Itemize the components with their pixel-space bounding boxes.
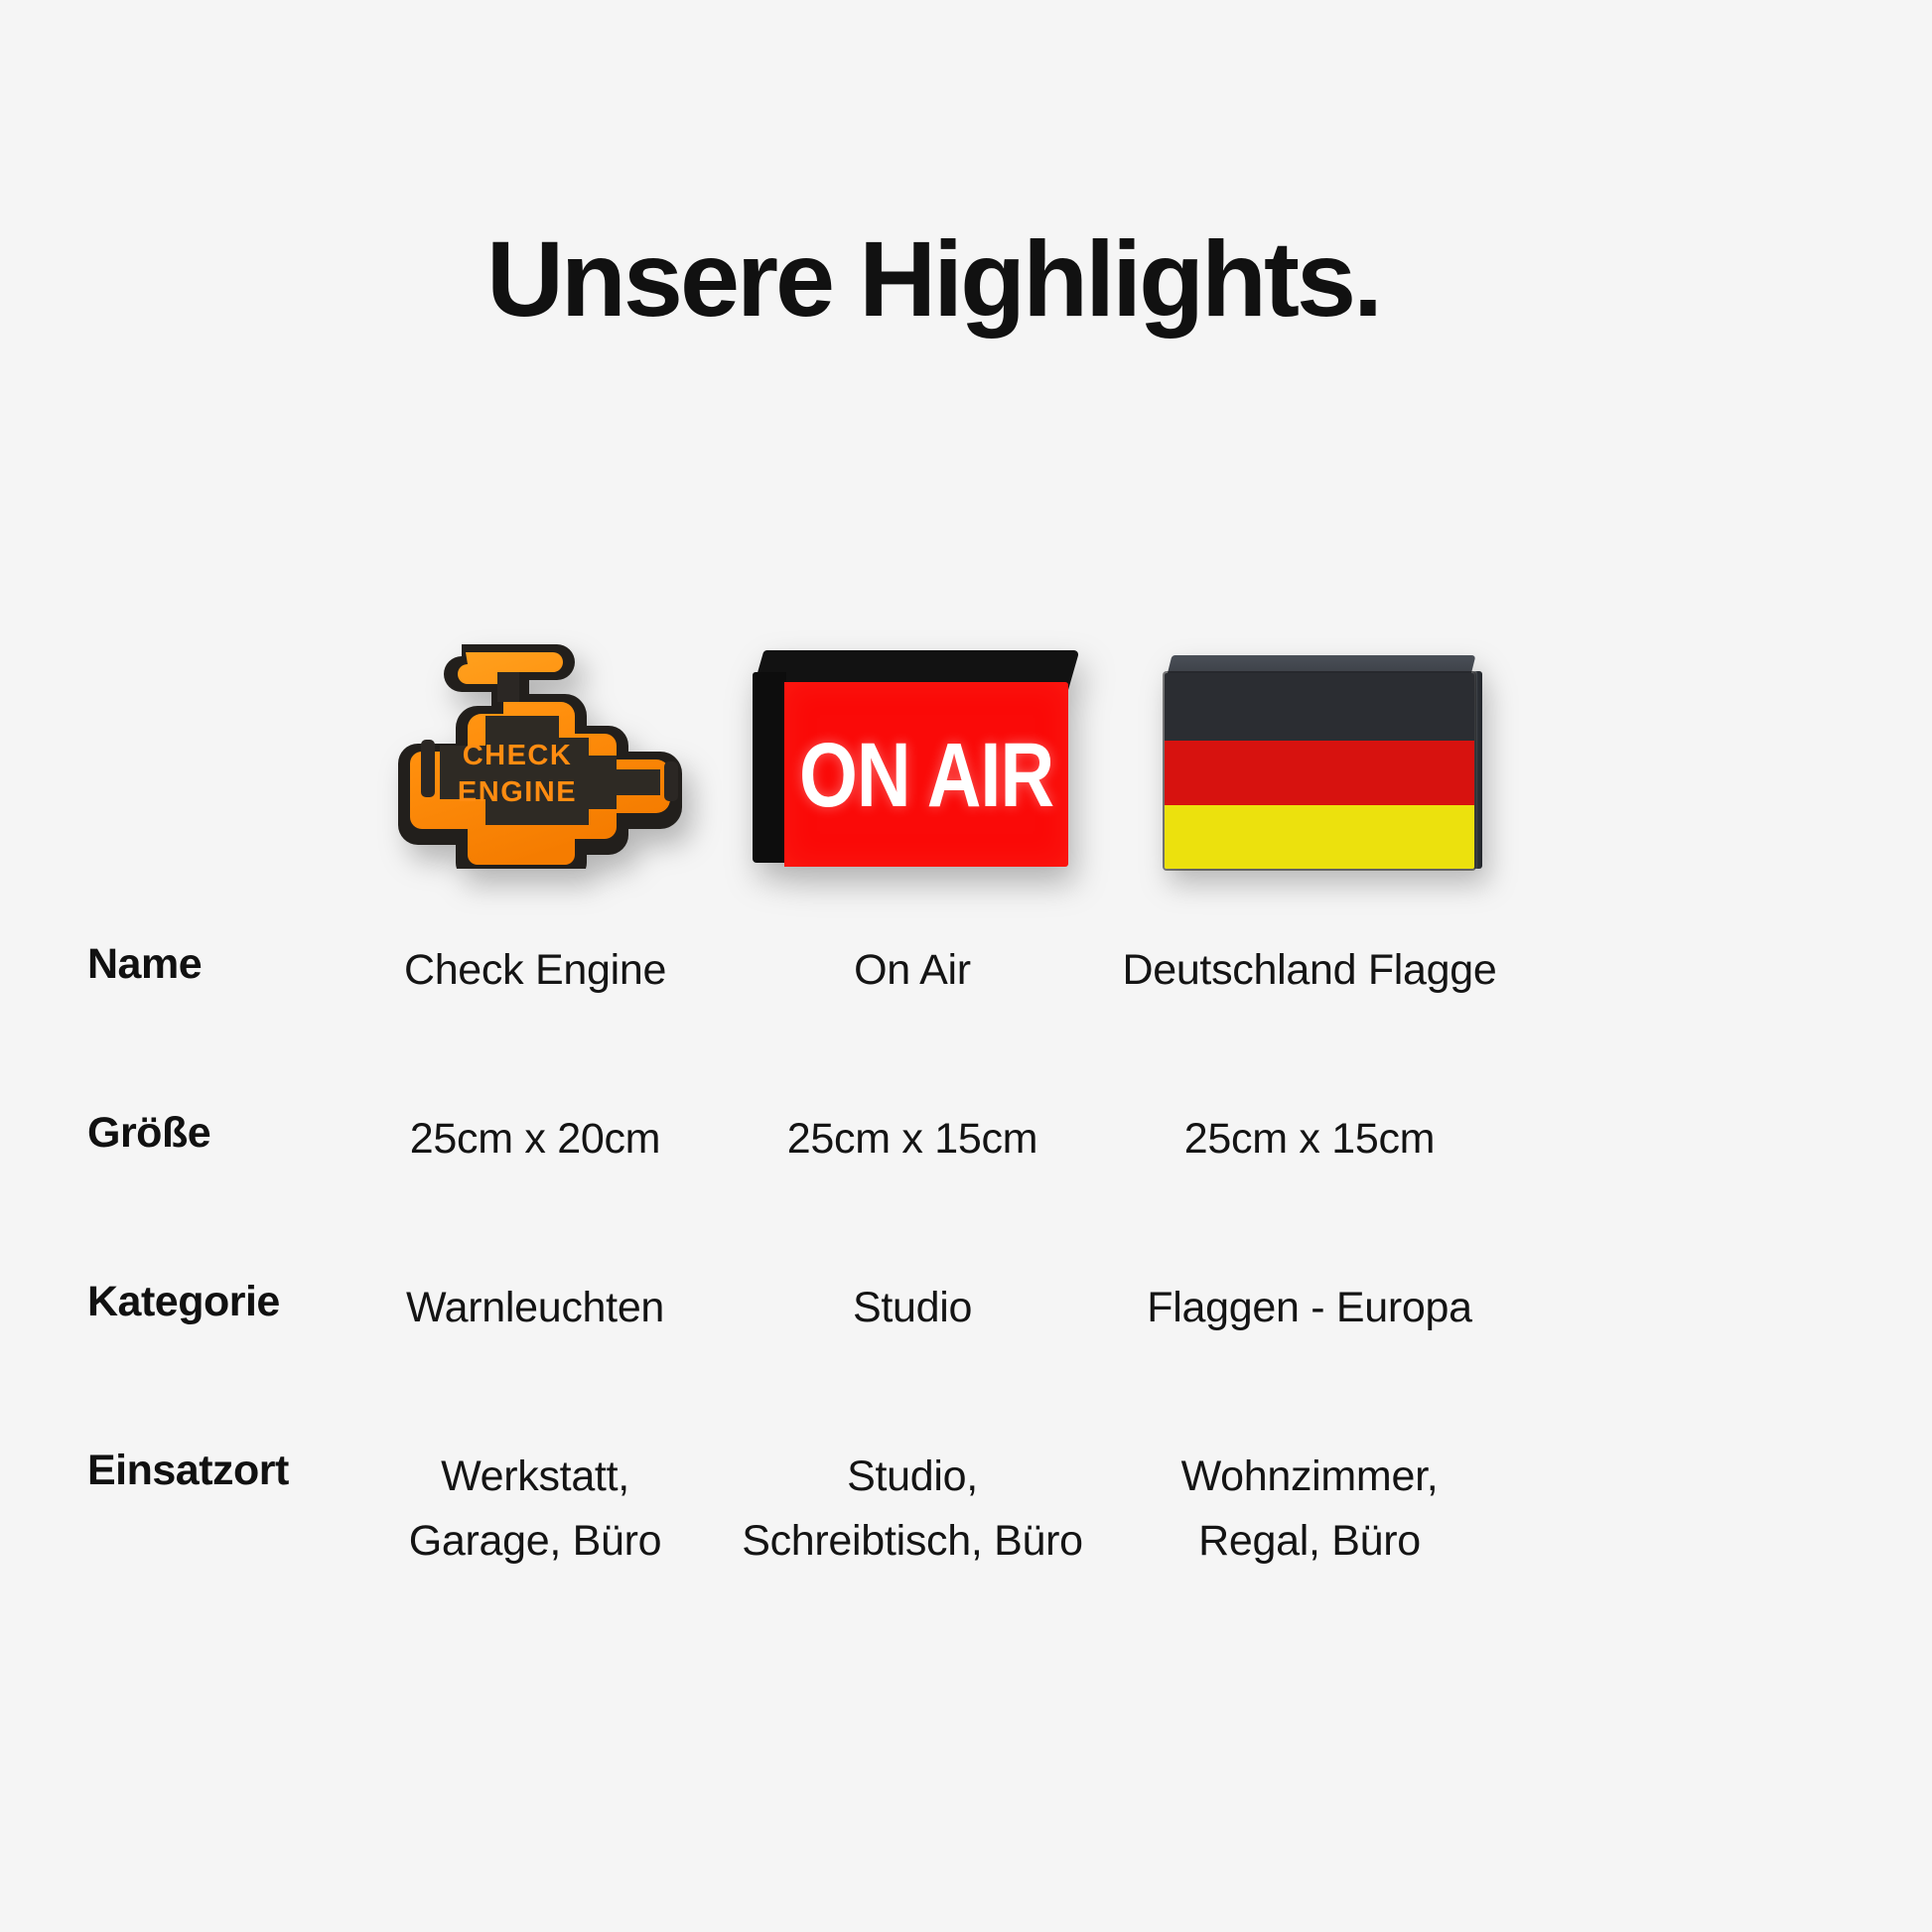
table-row: Kategorie Warnleuchten Studio Flaggen - … (0, 1276, 1932, 1445)
check-engine-icon: CHECK ENGINE (366, 621, 704, 869)
flag-front-face (1165, 673, 1474, 869)
cell-size-flagge: 25cm x 15cm (1096, 1107, 1523, 1172)
product-image-check-engine[interactable]: CHECK ENGINE (342, 551, 729, 869)
row-label-einsatzort: Einsatzort (0, 1445, 342, 1498)
cell-size-on-air: 25cm x 15cm (729, 1107, 1096, 1172)
page-title: Unsere Highlights. (0, 220, 1899, 339)
cell-location-on-air: Studio,Schreibtisch, Büro (729, 1445, 1096, 1573)
cell-size-check-engine: 25cm x 20cm (342, 1107, 729, 1172)
germany-flag-lightbox (1165, 655, 1482, 869)
svg-text:CHECK: CHECK (463, 740, 573, 771)
spec-table: Name Check Engine On Air Deutschland Fla… (0, 938, 1932, 1643)
flag-stripe-black (1165, 673, 1474, 741)
cell-category-on-air: Studio (729, 1276, 1096, 1340)
flag-stripe-yellow (1165, 805, 1474, 869)
cell-category-flagge: Flaggen - Europa (1096, 1276, 1523, 1340)
row-label-groesse: Größe (0, 1107, 342, 1161)
flag-stripe-red (1165, 741, 1474, 805)
product-image-row: CHECK ENGINE ON AIR (0, 551, 1932, 869)
cell-location-flagge: Wohnzimmer,Regal, Büro (1096, 1445, 1523, 1573)
cell-location-check-engine: Werkstatt,Garage, Büro (342, 1445, 729, 1573)
cell-name-flagge: Deutschland Flagge (1096, 938, 1523, 1003)
cell-category-check-engine: Warnleuchten (342, 1276, 729, 1340)
row-label-name: Name (0, 938, 342, 992)
product-image-on-air[interactable]: ON AIR (733, 551, 1100, 869)
on-air-lightbox: ON AIR (753, 650, 1080, 869)
cell-name-check-engine: Check Engine (342, 938, 729, 1003)
on-air-side-face (753, 672, 786, 863)
table-row: Einsatzort Werkstatt,Garage, Büro Studio… (0, 1445, 1932, 1643)
row-label-kategorie: Kategorie (0, 1276, 342, 1329)
on-air-sign-text: ON AIR (799, 729, 1053, 820)
svg-text:ENGINE: ENGINE (458, 776, 577, 808)
highlights-page: Unsere Highlights. (0, 0, 1932, 1932)
table-row: Name Check Engine On Air Deutschland Fla… (0, 938, 1932, 1107)
product-image-deutschland-flagge[interactable] (1110, 551, 1537, 869)
cell-name-on-air: On Air (729, 938, 1096, 1003)
table-row: Größe 25cm x 20cm 25cm x 15cm 25cm x 15c… (0, 1107, 1932, 1276)
on-air-front-face: ON AIR (784, 682, 1068, 867)
